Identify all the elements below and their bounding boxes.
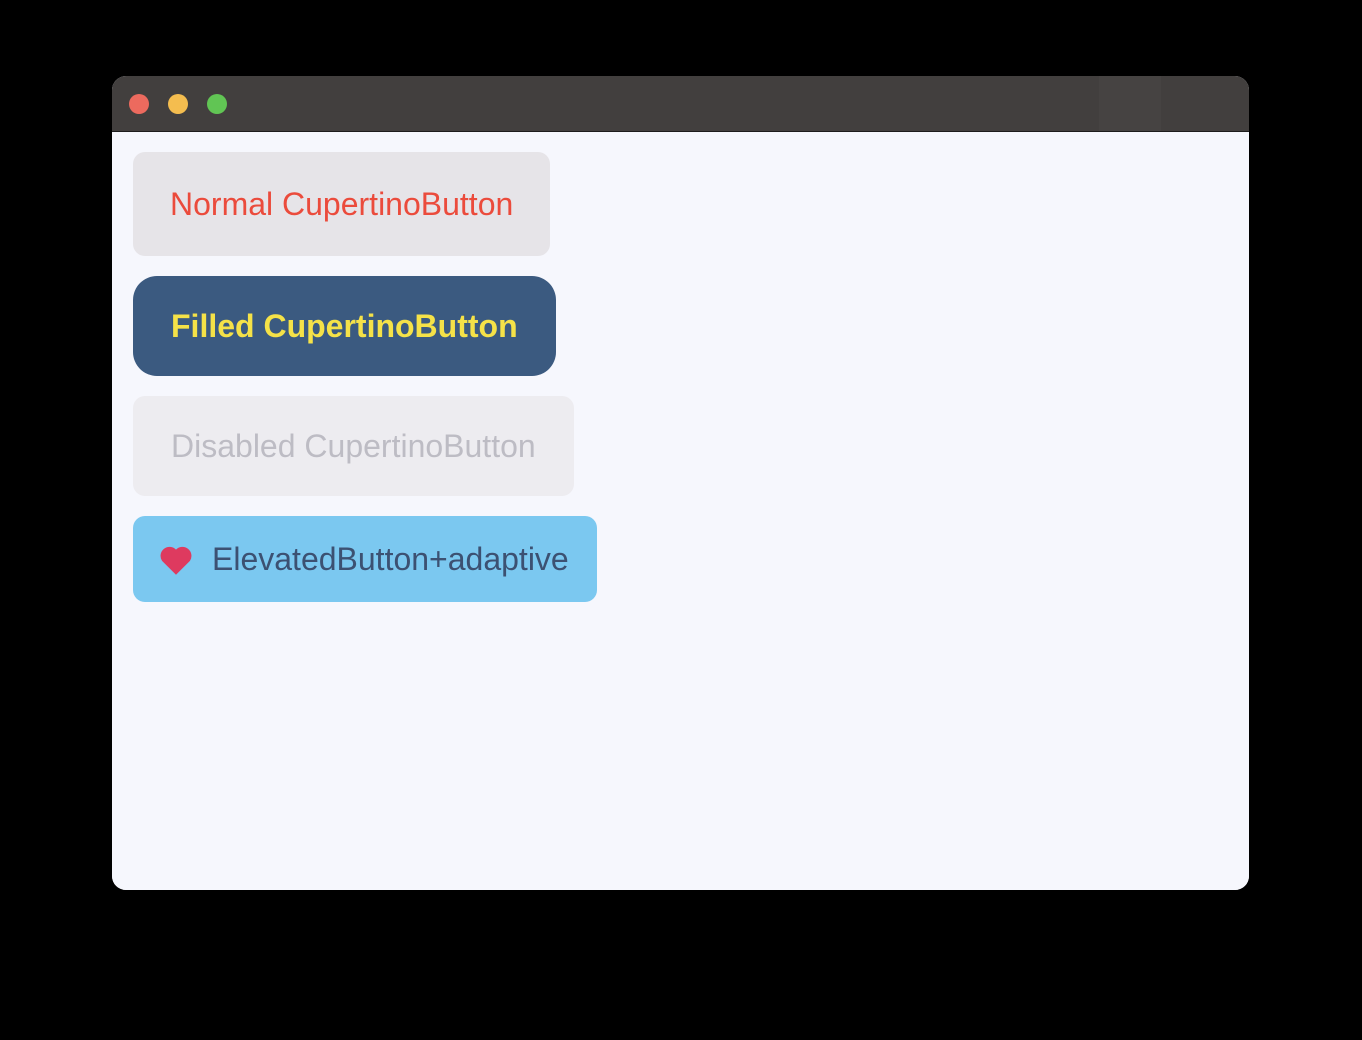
normal-cupertino-button[interactable]: Normal CupertinoButton xyxy=(133,152,550,256)
adaptive-button-row: ElevatedButton+adaptive xyxy=(133,516,1249,602)
filled-cupertino-button[interactable]: Filled CupertinoButton xyxy=(133,276,556,376)
heart-icon xyxy=(157,540,195,578)
traffic-light-controls xyxy=(129,94,227,114)
minimize-window-button[interactable] xyxy=(168,94,188,114)
elevated-adaptive-button[interactable]: ElevatedButton+adaptive xyxy=(133,516,597,602)
filled-cupertino-button-label: Filled CupertinoButton xyxy=(171,308,518,345)
filled-button-row: Filled CupertinoButton xyxy=(133,276,1249,376)
window-title-bar[interactable] xyxy=(112,76,1249,132)
disabled-cupertino-button: Disabled CupertinoButton xyxy=(133,396,574,496)
title-bar-highlight xyxy=(1099,76,1161,131)
disabled-button-row: Disabled CupertinoButton xyxy=(133,396,1249,496)
disabled-cupertino-button-label: Disabled CupertinoButton xyxy=(171,428,536,465)
close-window-button[interactable] xyxy=(129,94,149,114)
elevated-adaptive-button-label: ElevatedButton+adaptive xyxy=(212,541,569,578)
normal-cupertino-button-label: Normal CupertinoButton xyxy=(170,186,513,223)
normal-button-row: Normal CupertinoButton xyxy=(133,152,1249,256)
app-window: Normal CupertinoButton Filled CupertinoB… xyxy=(112,76,1249,890)
maximize-window-button[interactable] xyxy=(207,94,227,114)
content-area: Normal CupertinoButton Filled CupertinoB… xyxy=(112,132,1249,890)
